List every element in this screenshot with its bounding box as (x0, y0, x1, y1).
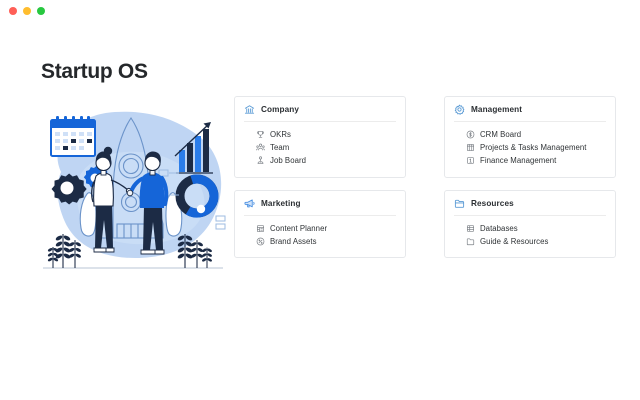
list-item[interactable]: Finance Management (454, 154, 606, 167)
page-title: Startup OS (41, 61, 148, 82)
page-content: Startup OS (0, 22, 640, 400)
window-maximize-button[interactable] (37, 7, 45, 15)
card-list-marketing: Content Planner Brand Assets (244, 216, 396, 248)
gear-icon (454, 104, 465, 115)
calendar-grid-icon (256, 224, 265, 233)
card-header-management: Management (454, 104, 606, 122)
card-management[interactable]: Management CRM Board (444, 96, 616, 178)
list-item-label: Projects & Tasks Management (480, 143, 587, 152)
card-list-management: CRM Board Projects & Tasks Management (454, 122, 606, 168)
window-minimize-button[interactable] (23, 7, 31, 15)
window-title-bar (0, 0, 640, 22)
card-header-marketing: Marketing (244, 198, 396, 216)
list-item-label: Brand Assets (270, 237, 317, 246)
card-title: Company (261, 105, 299, 114)
list-item[interactable]: Databases (454, 222, 606, 235)
card-title: Management (471, 105, 522, 114)
list-item[interactable]: Projects & Tasks Management (454, 141, 606, 154)
list-item-label: Databases (480, 224, 518, 233)
card-header-resources: Resources (454, 198, 606, 216)
list-item-label: Team (270, 143, 289, 152)
card-company[interactable]: Company OKRs (234, 96, 406, 178)
card-header-company: Company (244, 104, 396, 122)
folder-open-icon (454, 198, 465, 209)
megaphone-icon (244, 198, 255, 209)
list-item-label: CRM Board (480, 130, 521, 139)
people-icon (256, 143, 265, 152)
list-item-label: OKRs (270, 130, 291, 139)
list-item[interactable]: CRM Board (454, 128, 606, 141)
database-icon (466, 224, 475, 233)
list-item-label: Finance Management (480, 156, 556, 165)
folder-icon (466, 237, 475, 246)
hero-illustration (33, 98, 229, 284)
list-item-label: Guide & Resources (480, 237, 548, 246)
card-title: Resources (471, 199, 514, 208)
card-title: Marketing (261, 199, 301, 208)
card-list-company: OKRs Team (244, 122, 396, 168)
palette-icon (256, 237, 265, 246)
list-item[interactable]: Job Board (244, 154, 396, 167)
user-node-icon (256, 156, 265, 165)
list-item[interactable]: Team (244, 141, 396, 154)
number-one-icon (466, 156, 475, 165)
bank-icon (244, 104, 255, 115)
circle-dollar-icon (466, 130, 475, 139)
list-item[interactable]: Content Planner (244, 222, 396, 235)
list-item[interactable]: OKRs (244, 128, 396, 141)
list-item-label: Content Planner (270, 224, 327, 233)
window-close-button[interactable] (9, 7, 17, 15)
card-marketing[interactable]: Marketing Content Planner (234, 190, 406, 258)
card-list-resources: Databases Guide & Resources (454, 216, 606, 248)
list-item-label: Job Board (270, 156, 306, 165)
trophy-icon (256, 130, 265, 139)
card-grid: Company OKRs (234, 96, 616, 258)
board-icon (466, 143, 475, 152)
list-item[interactable]: Brand Assets (244, 235, 396, 248)
card-resources[interactable]: Resources Databases (444, 190, 616, 258)
list-item[interactable]: Guide & Resources (454, 235, 606, 248)
